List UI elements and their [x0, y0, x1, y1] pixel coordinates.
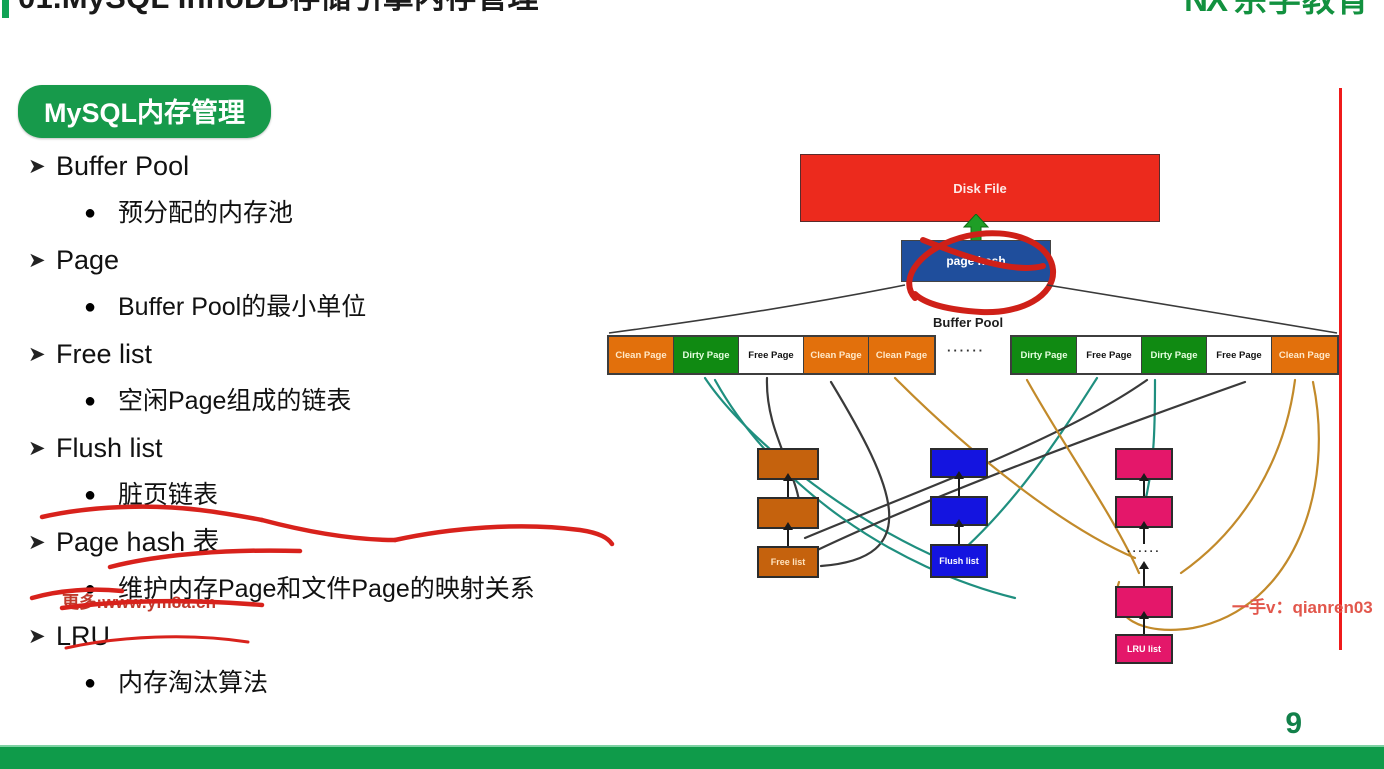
watermark-more-link: 更多:www.ym8a.cn: [62, 588, 216, 613]
annotation-vertical-line: [1339, 88, 1342, 650]
buffer-pool-pages-right: Dirty Page Free Page Dirty Page Free Pag…: [1010, 335, 1339, 375]
bullet-dot-icon: ●: [84, 285, 118, 330]
flush-list-head: Flush list: [930, 544, 988, 578]
subbullet-label: 空闲Page组成的链表: [118, 379, 351, 424]
brand-logo: NX宗学教育: [1184, 0, 1370, 21]
bullet-dot-icon: ●: [84, 473, 118, 518]
bullet-flush-list: ➤ Flush list: [22, 426, 642, 471]
bullet-arrow-icon: ➤: [22, 520, 56, 565]
disk-file-label: Disk File: [953, 181, 1006, 196]
bullet-arrow-icon: ➤: [22, 614, 56, 659]
subbullet-lru-1: ● 内存淘汰算法: [22, 661, 642, 706]
page-cell: Clean Page: [869, 337, 934, 373]
page-cell: Clean Page: [609, 337, 674, 373]
disk-file-block: Disk File: [800, 154, 1160, 222]
subbullet-label: 脏页链表: [118, 473, 218, 518]
buffer-pool-pages-left: Clean Page Dirty Page Free Page Clean Pa…: [607, 335, 936, 375]
free-list-link-arrow-icon: [787, 480, 789, 497]
lru-list-ellipsis: ······: [1127, 546, 1161, 558]
page-title: 01.MySQL InnoDB存储引擎内存管理: [18, 0, 539, 17]
flush-list-stack: Flush list: [930, 448, 988, 578]
list-connector-curves: [595, 368, 1384, 668]
bullet-arrow-icon: ➤: [22, 426, 56, 471]
flush-list-link-arrow-icon: [958, 478, 960, 496]
free-list-head: Free list: [757, 546, 819, 578]
page-cell: Dirty Page: [674, 337, 739, 373]
lru-list-link-arrow-icon: [1143, 528, 1145, 544]
page-cell: Dirty Page: [1142, 337, 1207, 373]
bullet-label: Page hash 表: [56, 520, 220, 565]
lru-list-link-arrow-icon: [1143, 480, 1145, 496]
flush-list-label: Flush list: [939, 556, 979, 567]
page-cell: Dirty Page: [1012, 337, 1077, 373]
lru-list-link-arrow-icon: [1143, 568, 1145, 586]
free-list-stack: Free list: [757, 448, 819, 578]
lru-list-link-arrow-icon: [1143, 618, 1145, 634]
subbullet-flush-list-1: ● 脏页链表: [22, 473, 642, 518]
bullet-page-hash: ➤ Page hash 表: [22, 520, 642, 565]
bullet-label: Buffer Pool: [56, 144, 189, 189]
flush-list-link-arrow-icon: [958, 526, 960, 544]
page-number: 9: [1285, 707, 1302, 741]
lru-list-head: LRU list: [1115, 634, 1173, 664]
left-content-column: MySQL内存管理 ➤ Buffer Pool ● 预分配的内存池 ➤ Page…: [0, 70, 660, 690]
lru-list-label: LRU list: [1127, 644, 1161, 655]
bullet-page: ➤ Page: [22, 238, 642, 283]
bullet-lru: ➤ LRU: [22, 614, 642, 659]
slide-header: 01.MySQL InnoDB存储引擎内存管理 NX宗学教育: [0, 0, 1384, 34]
page-cell: Free Page: [739, 337, 804, 373]
bullet-arrow-icon: ➤: [22, 144, 56, 189]
bullet-dot-icon: ●: [84, 661, 118, 706]
subbullet-label: 内存淘汰算法: [118, 661, 268, 706]
buffer-pool-label: Buffer Pool: [933, 315, 1003, 330]
bullet-dot-icon: ●: [84, 191, 118, 236]
page-cell: Free Page: [1207, 337, 1272, 373]
bullet-label: Page: [56, 238, 119, 283]
brand-name: 宗学教育: [1234, 0, 1370, 18]
page-hash-block: page hash: [901, 240, 1051, 282]
subbullet-free-list-1: ● 空闲Page组成的链表: [22, 379, 642, 424]
subbullet-buffer-pool-1: ● 预分配的内存池: [22, 191, 642, 236]
buffer-pool-row-ellipsis: ······: [947, 343, 985, 358]
lru-list-stack: ······ LRU list: [1115, 448, 1173, 658]
bullet-dot-icon: ●: [84, 379, 118, 424]
subbullet-label: Buffer Pool的最小单位: [118, 285, 366, 330]
memory-architecture-diagram: Disk File page hash Buffer Pool Clean Pa…: [595, 130, 1384, 690]
page-cell: Clean Page: [1272, 337, 1337, 373]
bullet-label: Free list: [56, 332, 152, 377]
bullet-buffer-pool: ➤ Buffer Pool: [22, 144, 642, 189]
footer-bar: [0, 747, 1384, 769]
free-list-link-arrow-icon: [787, 529, 789, 546]
bullet-label: Flush list: [56, 426, 163, 471]
watermark-right-note: 一手v：qianren03: [1232, 593, 1373, 618]
bullet-label: LRU: [56, 614, 110, 659]
bullet-free-list: ➤ Free list: [22, 332, 642, 377]
subbullet-page-1: ● Buffer Pool的最小单位: [22, 285, 642, 330]
section-badge: MySQL内存管理: [18, 85, 271, 138]
page-hash-label: page hash: [946, 254, 1005, 268]
bullet-list: ➤ Buffer Pool ● 预分配的内存池 ➤ Page ● Buffer …: [22, 144, 642, 708]
brand-mark: NX: [1184, 0, 1226, 18]
title-accent-bar: [2, 0, 9, 18]
bullet-arrow-icon: ➤: [22, 238, 56, 283]
bullet-arrow-icon: ➤: [22, 332, 56, 377]
page-cell: Clean Page: [804, 337, 869, 373]
free-list-label: Free list: [771, 557, 806, 568]
page-cell: Free Page: [1077, 337, 1142, 373]
subbullet-label: 预分配的内存池: [118, 191, 293, 236]
